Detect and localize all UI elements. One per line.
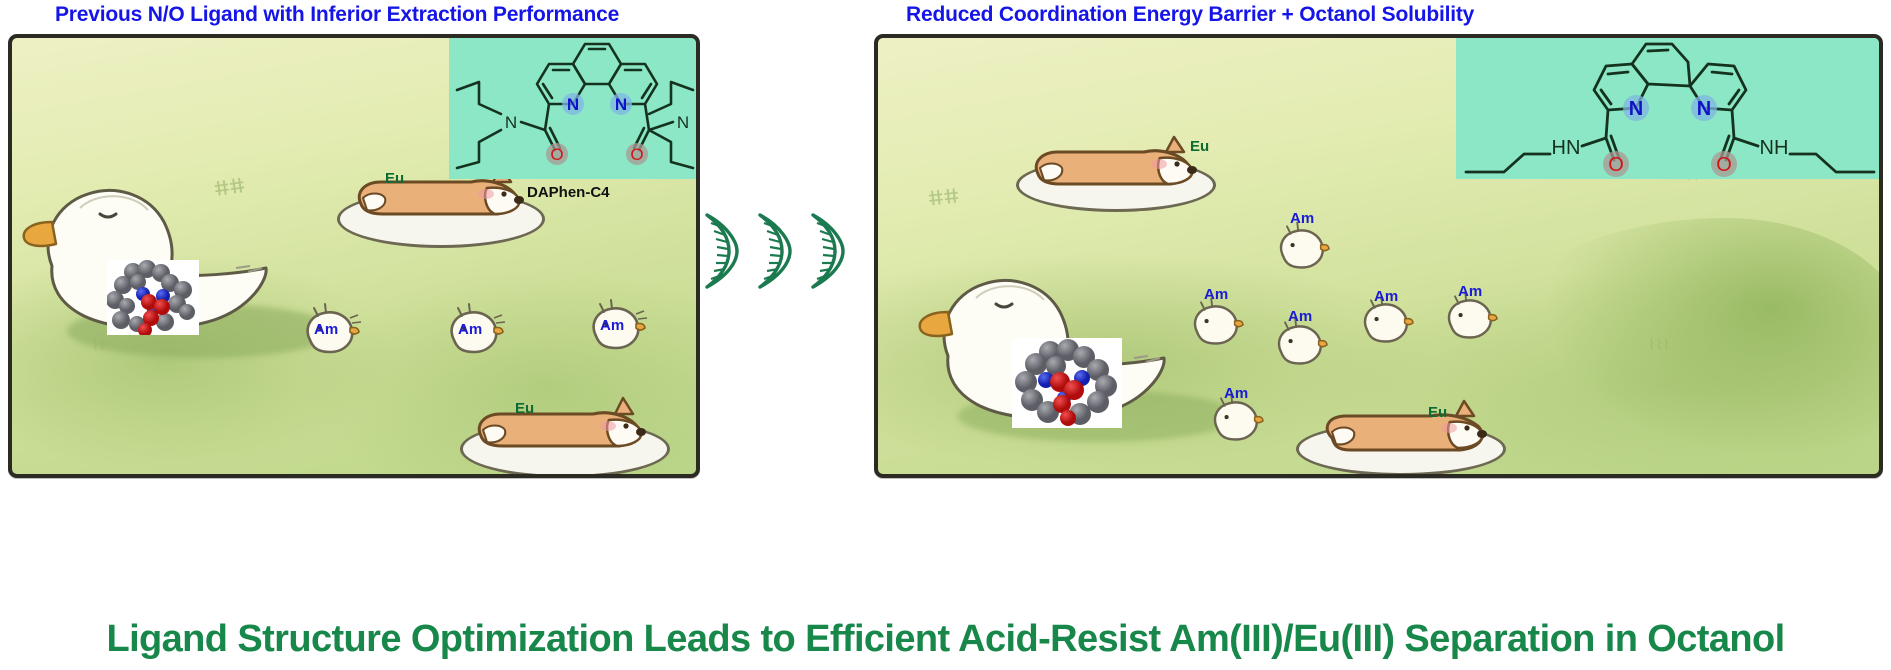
- atom-label-n: N: [567, 95, 579, 114]
- ligand-structure-inset-left: N N O O N N: [449, 38, 700, 179]
- corgi-eu-2: [467, 390, 663, 460]
- left-panel-heading: Previous N/O Ligand with Inferior Extrac…: [55, 3, 619, 27]
- duckling-am-3: [1270, 314, 1328, 370]
- figure-caption: Ligand Structure Optimization Leads to E…: [0, 618, 1891, 661]
- atom-label-o: O: [630, 145, 643, 164]
- duckling-am-5: [1440, 288, 1498, 344]
- chevron-right-icon: [707, 215, 737, 287]
- transition-arrows: [705, 212, 871, 290]
- atom-label-n: N: [615, 95, 627, 114]
- grass-tuft-icon: ⌇⌇⌇: [1648, 338, 1670, 353]
- right-scene-panel: ⵌⵌ ⌇⌇ ⌇⌇⌇: [874, 34, 1883, 478]
- duckling-am-2: [442, 300, 504, 358]
- molecule-model-left: [107, 260, 199, 335]
- chevron-right-icon: [760, 215, 790, 287]
- figure-root: Previous N/O Ligand with Inferior Extrac…: [0, 0, 1891, 670]
- grass-tuft-icon: ⵌⵌ: [927, 186, 960, 209]
- ligand-name-left: DAPhen-C4: [527, 184, 610, 201]
- left-scene-panel: ⵌⵌ ⌇⌇⌇ ⌇⌇: [8, 34, 700, 478]
- chevron-right-icon: [813, 215, 843, 287]
- right-panel-heading: Reduced Coordination Energy Barrier + Oc…: [906, 3, 1474, 27]
- atom-label-o: O: [1716, 154, 1732, 176]
- atom-label-n: N: [1697, 98, 1711, 120]
- duckling-am-2: [1186, 294, 1244, 350]
- duckling-am-1: [1272, 218, 1330, 274]
- ligand-structure-inset-right: N N O O HN NH: [1456, 38, 1883, 179]
- atom-label-n-amide: N: [505, 113, 517, 132]
- atom-label-o: O: [550, 145, 563, 164]
- corgi-eu-2: [1302, 392, 1502, 460]
- molecule-model-right: [1012, 338, 1122, 428]
- duckling-am-3: [584, 296, 646, 354]
- atom-label-n-amide: N: [677, 113, 689, 132]
- corgi-eu-1: [1024, 130, 1210, 196]
- atom-label-hn: HN: [1552, 137, 1581, 159]
- atom-label-o: O: [1608, 154, 1624, 176]
- hill-shading: [1449, 218, 1883, 478]
- daphen-c4-structure: N N O O N N: [449, 38, 700, 179]
- duckling-am-4: [1356, 292, 1414, 348]
- atom-label-n: N: [1629, 98, 1643, 120]
- duckling-am-1: [298, 300, 360, 358]
- duckling-am-6: [1206, 390, 1264, 446]
- atom-label-nh: NH: [1760, 137, 1789, 159]
- diphen-c4-structure: N N O O HN NH: [1456, 38, 1883, 179]
